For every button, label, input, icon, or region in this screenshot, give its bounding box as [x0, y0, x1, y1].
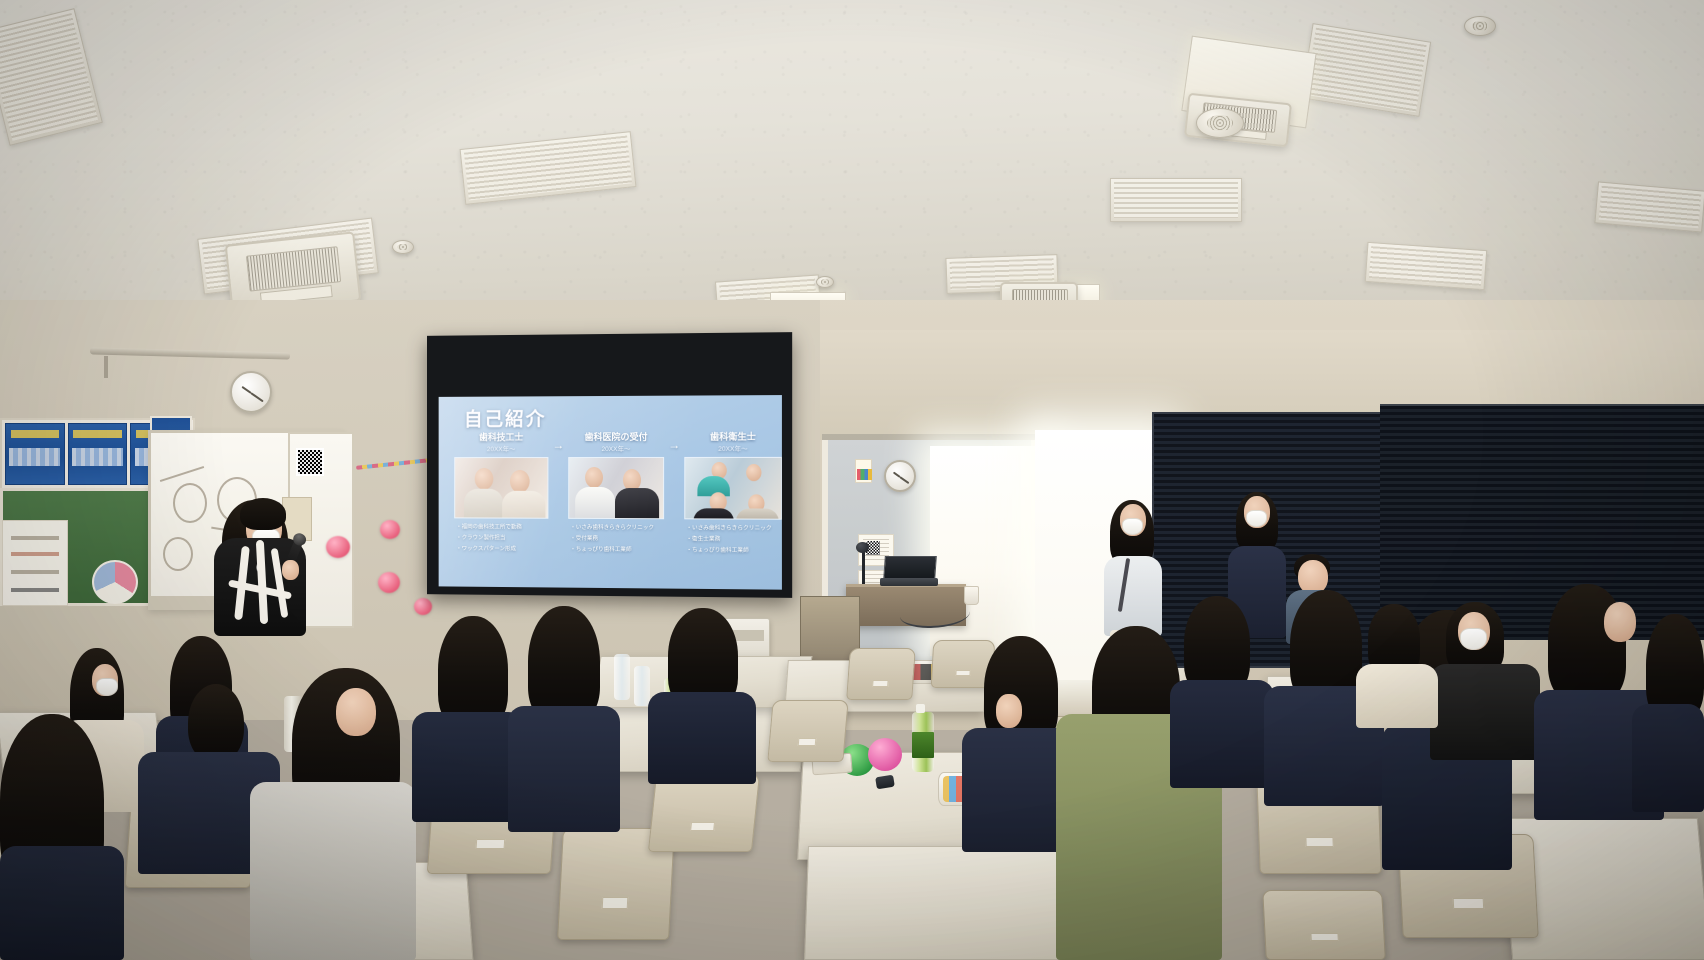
clock-minute-hand — [900, 476, 910, 484]
ceiling-speaker — [1196, 108, 1244, 138]
bullet-item: ワックスパターン形成 — [456, 544, 548, 555]
pie-chart-poster — [92, 560, 138, 604]
student-hand — [996, 694, 1022, 728]
bullet-item: ちょっぴり歯科工業師 — [570, 544, 664, 555]
pink-balloon — [868, 738, 902, 771]
photo-figure — [736, 509, 779, 520]
wall-poster — [68, 423, 128, 485]
pom-pom-decoration — [326, 536, 350, 558]
pinned-notice — [2, 520, 68, 606]
doodle-stroke — [160, 466, 204, 482]
student-uniform — [648, 692, 756, 784]
rail-hook — [104, 356, 108, 378]
photo-face — [585, 467, 603, 488]
wall-clock-right — [884, 460, 916, 492]
student-uniform — [1430, 664, 1540, 760]
student-uniform — [1632, 704, 1704, 812]
slide-column-1: 歯科技工士 20XX年〜 福岡の歯科技工所で勤務 クラウン製作担当 ワックスパタ… — [454, 432, 548, 555]
adult-head — [1298, 560, 1328, 594]
student-face-mask — [96, 678, 118, 696]
arrow-icon: → — [552, 438, 564, 452]
pom-pom-decoration — [378, 572, 400, 593]
staff-face-mask — [1122, 518, 1143, 535]
column-heading: 歯科技工士 — [454, 432, 548, 442]
photo-face — [510, 470, 530, 493]
doodle-face — [163, 537, 193, 571]
classroom-chair — [1262, 890, 1386, 960]
column-bullets: いさみ歯科きらきらクリニック 受付業務 ちょっぴり歯科工業師 — [568, 523, 664, 555]
bullet-item: 福岡の歯科技工所で勤務 — [456, 523, 548, 534]
smoke-detector — [1464, 16, 1496, 36]
slide-columns: 歯科技工士 20XX年〜 福岡の歯科技工所で勤務 クラウン製作担当 ワックスパタ… — [454, 432, 769, 557]
photo-figure — [575, 487, 615, 519]
student-uniform — [1170, 680, 1274, 788]
projection-screen: 自己紹介 歯科技工士 20XX年〜 福岡の歯科技工所で勤務 クラウン製作担当 ワ… — [427, 332, 792, 598]
photo-figure — [693, 509, 734, 520]
clear-water-bottle — [634, 666, 650, 706]
bullet-item: 衛生士業務 — [686, 534, 782, 545]
student-head — [336, 688, 376, 736]
column-year: 20XX年〜 — [684, 443, 782, 453]
classroom-chair — [648, 774, 760, 852]
clear-water-bottle — [614, 654, 630, 700]
laptop-keyboard — [880, 578, 938, 586]
classroom-chair — [846, 648, 916, 700]
presenter-hair-top — [240, 498, 286, 530]
student-face-mask — [1460, 628, 1487, 650]
column-year: 20XX年〜 — [454, 443, 548, 453]
student-head — [1604, 602, 1636, 642]
colorful-notice-card — [855, 459, 872, 483]
student-uniform — [1356, 664, 1438, 728]
staff-body — [1104, 556, 1162, 636]
wall-clock-left — [230, 371, 272, 413]
pom-pom-decoration — [414, 598, 432, 615]
column-heading: 歯科衛生士 — [684, 432, 782, 443]
air-vent — [1365, 242, 1487, 290]
photo-face — [475, 468, 494, 490]
bullet-item: ちょっぴり歯科工業師 — [686, 545, 782, 556]
photo-face — [746, 464, 761, 481]
slide-column-2: 歯科医院の受付 20XX年〜 いさみ歯科きらきらクリニック 受付業務 ちょっぴり… — [568, 432, 664, 556]
smoke-detector — [392, 240, 414, 254]
student-uniform — [0, 846, 124, 960]
presentation-slide: 自己紹介 歯科技工士 20XX年〜 福岡の歯科技工所で勤務 クラウン製作担当 ワ… — [439, 395, 782, 590]
microphone-head-icon — [856, 542, 869, 553]
slide-column-3: 歯科衛生士 20XX年〜 いさみ歯科きらきらクリニック 衛生士業務 — [684, 432, 782, 557]
column-bullets: 福岡の歯科技工所で勤務 クラウン製作担当 ワックスパターン形成 — [454, 523, 548, 555]
paper-cup — [964, 586, 979, 605]
student-hair — [528, 606, 600, 722]
presenter-hand — [282, 560, 299, 580]
column-heading: 歯科医院の受付 — [568, 432, 664, 443]
smoke-detector — [816, 276, 834, 288]
staff-face-mask — [1246, 510, 1267, 527]
sweater-stripe — [256, 540, 268, 624]
photo-figure — [502, 491, 545, 519]
window-blinds — [1380, 404, 1704, 640]
column-photo — [568, 457, 664, 519]
air-vent — [1110, 178, 1242, 222]
column-year: 20XX年〜 — [568, 443, 664, 453]
bullet-item: クラウン製作担当 — [456, 533, 548, 544]
student-uniform — [508, 706, 620, 832]
bullet-item: いさみ歯科きらきらクリニック — [686, 524, 782, 535]
pom-pom-decoration — [380, 520, 400, 539]
bullet-item: 受付業務 — [570, 534, 664, 545]
photo-figure — [615, 488, 659, 519]
bullet-item: いさみ歯科きらきらクリニック — [570, 523, 664, 534]
clock-minute-hand — [251, 392, 264, 402]
classroom-presentation-photo: 自己紹介 歯科技工士 20XX年〜 福岡の歯科技工所で勤務 クラウン製作担当 ワ… — [0, 0, 1704, 960]
arrow-icon: → — [668, 438, 680, 452]
slide-title: 自己紹介 — [464, 404, 546, 431]
column-photo — [454, 457, 548, 519]
column-bullets: いさみ歯科きらきらクリニック 衛生士業務 ちょっぴり歯科工業師 — [684, 524, 782, 557]
student-hair — [188, 684, 244, 762]
classroom-chair — [767, 700, 848, 762]
wall-poster — [5, 423, 65, 485]
doodle-face — [173, 483, 207, 523]
qr-code-poster — [296, 448, 324, 476]
column-photo — [684, 457, 782, 520]
photo-figure — [464, 489, 503, 519]
laptop-screen — [883, 556, 937, 580]
student-hoodie — [250, 782, 416, 960]
green-tea-bottle — [912, 712, 934, 772]
bottle-label — [912, 732, 934, 757]
